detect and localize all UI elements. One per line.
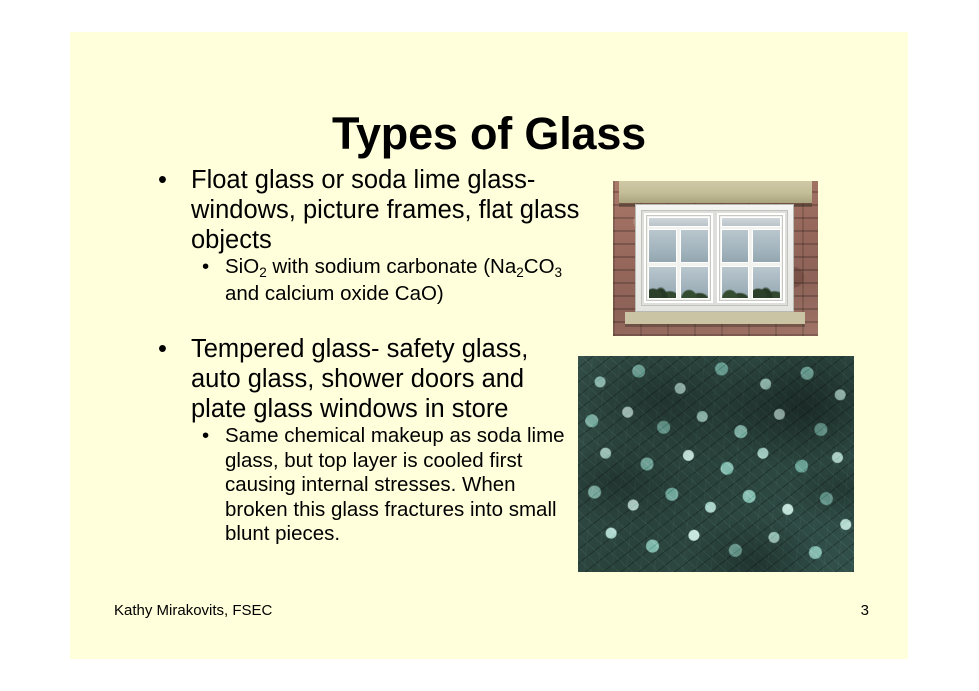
bullet-marker-icon: • [158, 165, 167, 195]
paragraph-spacer [112, 306, 582, 334]
window-pane [721, 266, 750, 300]
window-sill [625, 312, 805, 324]
window-pane [752, 266, 781, 300]
window-frame [635, 204, 794, 312]
bullet-item-float-glass: • Float glass or soda lime glass- window… [112, 165, 582, 255]
slide-body-content: • Float glass or soda lime glass- window… [112, 165, 582, 547]
window-pane-grid [648, 229, 709, 299]
sub-bullet-text: SiO2 with sodium carbonate (Na2CO3 and c… [225, 255, 562, 305]
sub-bullet-text: Same chemical makeup as soda lime glass,… [225, 424, 565, 545]
window-pane [648, 229, 677, 263]
window-pane [680, 229, 709, 263]
bullet-text: Tempered glass- safety glass, auto glass… [191, 335, 528, 423]
presentation-slide: Types of Glass • Float glass or soda lim… [70, 32, 908, 659]
window-inner-frame [641, 210, 788, 306]
glass-shadow-overlay [578, 356, 854, 572]
window-sill-shadow [625, 324, 805, 327]
footer-author: Kathy Mirakovits, FSEC [114, 602, 272, 620]
sub-bullet-item-sio2: • SiO2 with sodium carbonate (Na2CO3 and… [112, 255, 582, 306]
sub-bullet-item-tempered-detail: • Same chemical makeup as soda lime glas… [112, 424, 582, 547]
footer-page-number: 3 [861, 602, 869, 620]
window-sash-right [717, 213, 786, 303]
tempered-glass-photo [578, 356, 854, 572]
window-pane [680, 266, 709, 300]
page-title: Types of Glass [70, 108, 908, 160]
bullet-item-tempered-glass: • Tempered glass- safety glass, auto gla… [112, 334, 582, 424]
window-sash-left [644, 213, 713, 303]
window-photo [613, 181, 818, 336]
window-pane-grid [721, 229, 782, 299]
window-pane [752, 229, 781, 263]
window-lintel [619, 181, 812, 203]
window-transom [721, 217, 782, 227]
bullet-marker-icon: • [158, 334, 167, 364]
window-pane [648, 266, 677, 300]
bullet-text: Float glass or soda lime glass- windows,… [191, 166, 579, 254]
sub-bullet-marker-icon: • [202, 255, 209, 280]
sub-bullet-marker-icon: • [202, 424, 209, 449]
window-transom [648, 217, 709, 227]
window-pane [721, 229, 750, 263]
